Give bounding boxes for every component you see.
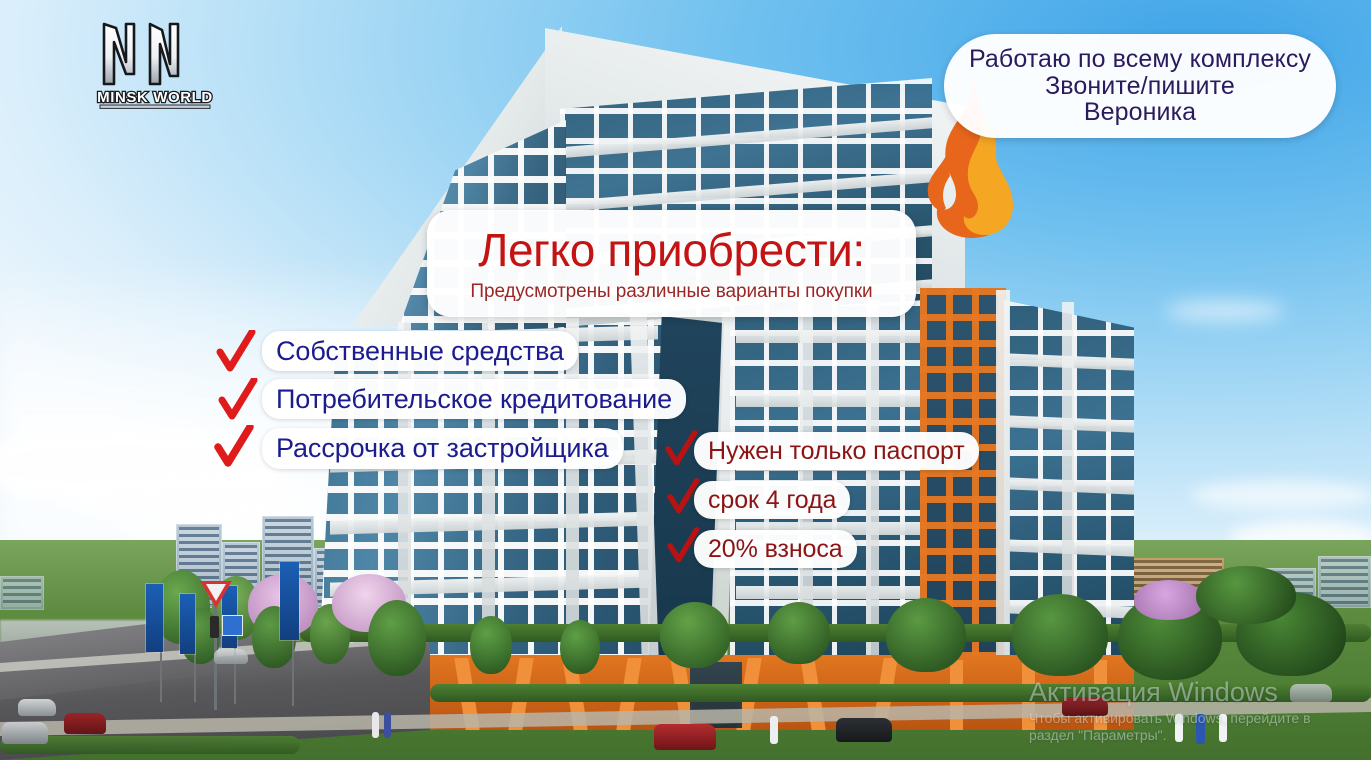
street-banner [180,594,195,654]
contact-line-3: Вероника [1084,99,1196,126]
installment-detail-item[interactable]: Нужен только паспорт [694,432,979,470]
check-icon [664,430,698,468]
page-subtitle: Предусмотрены различные варианты покупки [470,282,872,301]
installment-detail-label: Нужен только паспорт [708,437,965,466]
car [18,699,56,716]
crosswalk-sign-icon [222,615,243,636]
car [1290,684,1332,702]
car [654,724,716,750]
pedestrian [1175,714,1183,742]
payment-option-item[interactable]: Собственные средства [262,331,578,371]
tree [768,602,830,664]
payment-option-label: Потребительское кредитование [276,384,672,415]
car [2,722,48,744]
cloud [1165,300,1285,322]
building-frame [736,394,922,407]
street-banner [146,584,163,652]
logo-wordmark: MINSK WORLD [97,89,213,108]
tree [660,602,730,668]
building-frame [736,330,922,343]
hedge [430,684,1371,702]
car [64,713,106,734]
payment-option-item[interactable]: Рассрочка от застройщика [262,428,623,469]
brand-logo: MINSK WORLD [96,18,214,110]
installment-detail-item[interactable]: срок 4 года [694,481,850,519]
yield-sign-inner [206,584,226,601]
tree [560,620,600,674]
building-frame [866,300,879,678]
payment-option-label: Собственные средства [276,336,564,367]
installment-detail-label: 20% взноса [708,535,843,564]
tree [470,616,512,674]
pedestrian [384,712,391,738]
traffic-light-icon [210,616,219,638]
svg-text:MINSK WORLD: MINSK WORLD [97,89,213,106]
building-frame [736,586,922,599]
contact-line-2: Звоните/пишите [1045,73,1235,100]
cloud [1190,480,1371,510]
headline-bubble: Легко приобрести: Предусмотрены различны… [427,210,916,317]
mw-monogram-icon [104,24,178,84]
promo-image: MINSK WORLD Работаю по всему комплексу З… [0,0,1371,760]
check-icon [218,378,258,422]
background-tower [1318,556,1371,608]
pedestrian [1196,714,1205,744]
pedestrian [372,712,379,738]
payment-option-item[interactable]: Потребительское кредитование [262,379,686,419]
check-icon [216,330,256,374]
pedestrian [1219,714,1227,742]
installment-detail-item[interactable]: 20% взноса [694,530,857,568]
car [1062,697,1108,716]
tree [1012,594,1108,676]
check-icon [214,425,254,469]
page-title: Легко приобрести: [478,227,865,273]
car [836,718,892,742]
background-tower [0,576,44,610]
payment-option-label: Рассрочка от застройщика [276,433,609,464]
contact-bubble[interactable]: Работаю по всему комплексу Звоните/пишит… [944,34,1336,138]
car [214,649,248,664]
tree [1196,566,1296,624]
tree [886,598,966,672]
pedestrian [770,716,778,744]
street-banner [280,562,299,640]
contact-line-1: Работаю по всему комплексу [969,46,1311,73]
tree [368,600,426,676]
installment-detail-label: срок 4 года [708,486,836,515]
tree-blossom [1134,580,1204,620]
